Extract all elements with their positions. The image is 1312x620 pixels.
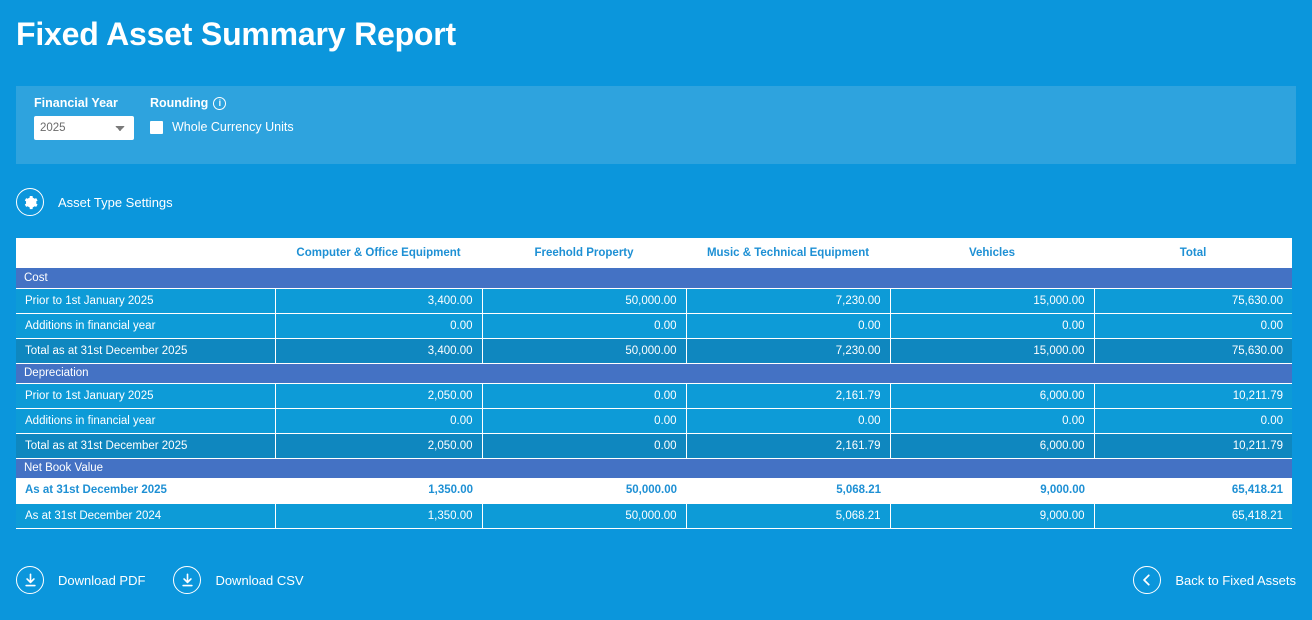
row-value: 0.00 bbox=[482, 433, 686, 458]
row-value: 50,000.00 bbox=[482, 288, 686, 313]
back-to-fixed-assets-button[interactable]: Back to Fixed Assets bbox=[1133, 566, 1296, 594]
row-value: 0.00 bbox=[686, 408, 890, 433]
row-label: Total as at 31st December 2025 bbox=[16, 338, 275, 363]
page-title: Fixed Asset Summary Report bbox=[0, 0, 1312, 54]
table-section-header-row: Net Book Value bbox=[16, 458, 1292, 478]
row-label: As at 31st December 2025 bbox=[16, 478, 275, 503]
row-value: 3,400.00 bbox=[275, 338, 482, 363]
row-value: 0.00 bbox=[890, 408, 1094, 433]
row-value: 2,050.00 bbox=[275, 433, 482, 458]
filter-panel: Financial Year 2025202420232022 Rounding… bbox=[16, 86, 1296, 164]
download-pdf-button[interactable]: Download PDF bbox=[16, 566, 145, 594]
row-value: 0.00 bbox=[275, 313, 482, 338]
financial-year-select[interactable]: 2025202420232022 bbox=[34, 116, 134, 140]
table-row: Prior to 1st January 20252,050.000.002,1… bbox=[16, 383, 1292, 408]
row-value: 0.00 bbox=[482, 383, 686, 408]
download-circle-icon bbox=[173, 566, 201, 594]
row-label: Prior to 1st January 2025 bbox=[16, 383, 275, 408]
row-value: 0.00 bbox=[275, 408, 482, 433]
column-header: Freehold Property bbox=[482, 238, 686, 268]
download-pdf-label: Download PDF bbox=[58, 573, 145, 588]
table-header-row: Computer & Office EquipmentFreehold Prop… bbox=[16, 238, 1292, 268]
row-value: 50,000.00 bbox=[482, 503, 686, 528]
row-value: 5,068.21 bbox=[686, 478, 890, 503]
row-value: 75,630.00 bbox=[1094, 338, 1292, 363]
row-label: Prior to 1st January 2025 bbox=[16, 288, 275, 313]
rounding-label: Rounding bbox=[150, 96, 208, 111]
row-value: 65,418.21 bbox=[1094, 503, 1292, 528]
row-label: Additions in financial year bbox=[16, 313, 275, 338]
whole-currency-units-label: Whole Currency Units bbox=[172, 120, 294, 134]
whole-currency-units-checkbox[interactable] bbox=[150, 121, 163, 134]
financial-year-label: Financial Year bbox=[34, 96, 134, 111]
column-header: Total bbox=[1094, 238, 1292, 268]
table-body: CostPrior to 1st January 20253,400.0050,… bbox=[16, 268, 1292, 528]
table-section-title: Depreciation bbox=[16, 363, 1292, 383]
column-header-blank bbox=[16, 238, 275, 268]
download-csv-button[interactable]: Download CSV bbox=[173, 566, 303, 594]
row-label: Additions in financial year bbox=[16, 408, 275, 433]
row-value: 0.00 bbox=[482, 408, 686, 433]
column-header: Vehicles bbox=[890, 238, 1094, 268]
row-value: 1,350.00 bbox=[275, 478, 482, 503]
download-csv-label: Download CSV bbox=[215, 573, 303, 588]
row-value: 2,161.79 bbox=[686, 383, 890, 408]
row-value: 6,000.00 bbox=[890, 433, 1094, 458]
table-row: Total as at 31st December 20253,400.0050… bbox=[16, 338, 1292, 363]
row-value: 9,000.00 bbox=[890, 478, 1094, 503]
row-value: 50,000.00 bbox=[482, 478, 686, 503]
table-section-title: Cost bbox=[16, 268, 1292, 288]
row-value: 15,000.00 bbox=[890, 338, 1094, 363]
table-row: As at 31st December 20241,350.0050,000.0… bbox=[16, 503, 1292, 528]
row-value: 2,050.00 bbox=[275, 383, 482, 408]
chevron-left-circle-icon bbox=[1133, 566, 1161, 594]
column-header: Music & Technical Equipment bbox=[686, 238, 890, 268]
table-row: Prior to 1st January 20253,400.0050,000.… bbox=[16, 288, 1292, 313]
row-value: 0.00 bbox=[1094, 408, 1292, 433]
footer-actions: Download PDF Download CSV Back to Fixed … bbox=[16, 560, 1296, 600]
row-value: 2,161.79 bbox=[686, 433, 890, 458]
row-value: 50,000.00 bbox=[482, 338, 686, 363]
footer-left-actions: Download PDF Download CSV bbox=[16, 566, 304, 594]
row-value: 9,000.00 bbox=[890, 503, 1094, 528]
rounding-group: Rounding Whole Currency Units bbox=[150, 96, 294, 138]
row-value: 7,230.00 bbox=[686, 338, 890, 363]
financial-year-group: Financial Year 2025202420232022 bbox=[34, 96, 134, 140]
row-value: 6,000.00 bbox=[890, 383, 1094, 408]
row-value: 5,068.21 bbox=[686, 503, 890, 528]
table-row: Additions in financial year0.000.000.000… bbox=[16, 313, 1292, 338]
table-section-title: Net Book Value bbox=[16, 458, 1292, 478]
row-value: 75,630.00 bbox=[1094, 288, 1292, 313]
row-label: Total as at 31st December 2025 bbox=[16, 433, 275, 458]
table-header: Computer & Office EquipmentFreehold Prop… bbox=[16, 238, 1292, 268]
table-section-header-row: Depreciation bbox=[16, 363, 1292, 383]
asset-type-settings-link[interactable]: Asset Type Settings bbox=[16, 188, 173, 216]
info-circle-icon[interactable] bbox=[213, 97, 226, 110]
row-value: 65,418.21 bbox=[1094, 478, 1292, 503]
row-value: 7,230.00 bbox=[686, 288, 890, 313]
table-row: As at 31st December 20251,350.0050,000.0… bbox=[16, 478, 1292, 503]
column-header: Computer & Office Equipment bbox=[275, 238, 482, 268]
row-value: 0.00 bbox=[686, 313, 890, 338]
row-value: 0.00 bbox=[890, 313, 1094, 338]
row-value: 0.00 bbox=[1094, 313, 1292, 338]
table-row: Additions in financial year0.000.000.000… bbox=[16, 408, 1292, 433]
row-value: 10,211.79 bbox=[1094, 383, 1292, 408]
row-value: 1,350.00 bbox=[275, 503, 482, 528]
row-value: 10,211.79 bbox=[1094, 433, 1292, 458]
row-value: 0.00 bbox=[482, 313, 686, 338]
filter-row: Financial Year 2025202420232022 Rounding… bbox=[34, 96, 1296, 140]
row-value: 3,400.00 bbox=[275, 288, 482, 313]
asset-type-settings-label: Asset Type Settings bbox=[58, 195, 173, 210]
whole-currency-units-row: Whole Currency Units bbox=[150, 116, 294, 138]
back-to-fixed-assets-label: Back to Fixed Assets bbox=[1175, 573, 1296, 588]
row-value: 15,000.00 bbox=[890, 288, 1094, 313]
gear-icon bbox=[16, 188, 44, 216]
download-circle-icon bbox=[16, 566, 44, 594]
rounding-header: Rounding bbox=[150, 96, 294, 111]
table-section-header-row: Cost bbox=[16, 268, 1292, 288]
table-row: Total as at 31st December 20252,050.000.… bbox=[16, 433, 1292, 458]
row-label: As at 31st December 2024 bbox=[16, 503, 275, 528]
fixed-asset-summary-table: Computer & Office EquipmentFreehold Prop… bbox=[16, 238, 1292, 529]
